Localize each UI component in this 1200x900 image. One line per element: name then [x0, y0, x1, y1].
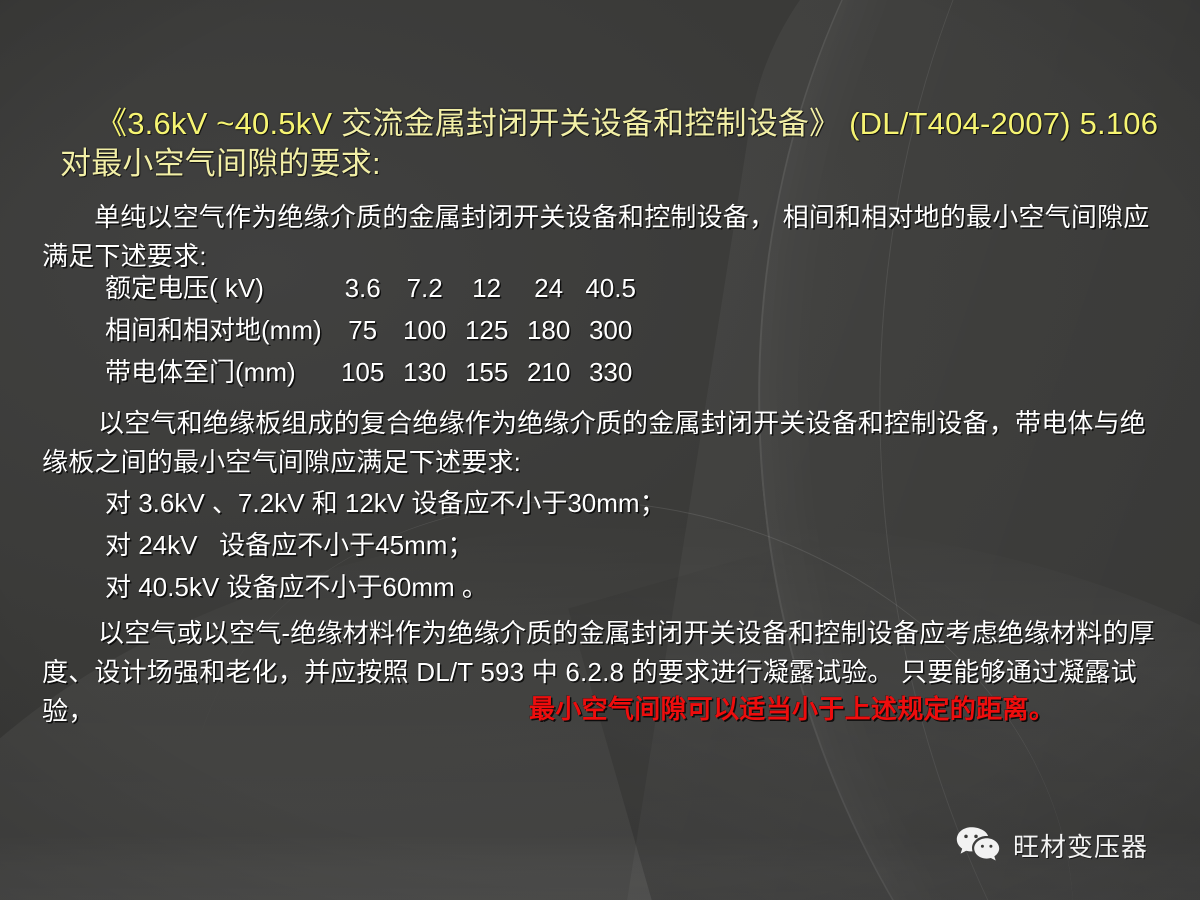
slide-title-segment-4: (DL/T404-2007) 5.106: [840, 106, 1158, 141]
table-row: 额定电压( kV)3.67.2122440.5: [105, 274, 642, 316]
wechat-watermark: 旺材变压器: [955, 826, 1148, 864]
table-row: 相间和相对地(mm)75100125180300: [105, 316, 642, 358]
table-cell-value: 12: [456, 274, 518, 316]
table-cell-value: 40.5: [580, 274, 642, 316]
slide-title: 《3.6kV ~40.5kV 交流金属封闭开关设备和控制设备》 (DL/T404…: [60, 104, 1165, 184]
slide-title-segment-0: 《: [96, 106, 127, 141]
paragraph-composite-insulation-intro: 以空气和绝缘板组成的复合绝缘作为绝缘介质的金属封闭开关设备和控制设备，带电体与绝…: [42, 404, 1172, 482]
table-cell-value: 300: [580, 316, 642, 358]
slide-title-segment-3: 》: [809, 106, 840, 141]
table-cell-value: 155: [456, 358, 518, 400]
slide-content: 《3.6kV ~40.5kV 交流金属封闭开关设备和控制设备》 (DL/T404…: [0, 0, 1200, 900]
table-cell-value: 180: [518, 316, 580, 358]
table-cell-value: 330: [580, 358, 642, 400]
slide-title-segment-2: 交流金属封闭开关设备和控制设备: [341, 106, 809, 141]
slide-canvas: 《3.6kV ~40.5kV 交流金属封闭开关设备和控制设备》 (DL/T404…: [0, 0, 1200, 900]
table-row-label: 相间和相对地(mm): [105, 316, 332, 358]
table-cell-value: 210: [518, 358, 580, 400]
rule-line-40kv: 对 40.5kV 设备应不小于60mm 。: [105, 572, 488, 602]
table-cell-value: 105: [332, 358, 394, 400]
table-cell-value: 24: [518, 274, 580, 316]
table-row-label: 带电体至门(mm): [105, 358, 332, 400]
highlight-note-red: 最小空气间隙可以适当小于上述规定的距离。: [529, 694, 1055, 724]
table-cell-value: 7.2: [394, 274, 456, 316]
wechat-watermark-label: 旺材变压器: [1013, 827, 1148, 864]
paragraph-air-insulation-intro: 单纯以空气作为绝缘介质的金属封闭开关设备和控制设备， 相间和相对地的最小空气间隙…: [42, 198, 1167, 276]
rule-line-low-voltage: 对 3.6kV 、7.2kV 和 12kV 设备应不小于30mm；: [105, 488, 666, 518]
wechat-icon: [955, 826, 1001, 864]
rule-line-24kv: 对 24kV 设备应不小于45mm；: [105, 530, 473, 560]
table-cell-value: 125: [456, 316, 518, 358]
table-cell-value: 130: [394, 358, 456, 400]
slide-title-segment-1: 3.6kV ~40.5kV: [127, 106, 341, 141]
table-cell-value: 75: [332, 316, 394, 358]
table-row-label: 额定电压( kV): [105, 274, 332, 316]
table-row: 带电体至门(mm)105130155210330: [105, 358, 642, 400]
slide-title-segment-5: 对最小空气间隙的要求:: [60, 146, 381, 181]
table-cell-value: 3.6: [332, 274, 394, 316]
clearance-spec-table: 额定电压( kV)3.67.2122440.5相间和相对地(mm)7510012…: [105, 274, 642, 400]
table-cell-value: 100: [394, 316, 456, 358]
